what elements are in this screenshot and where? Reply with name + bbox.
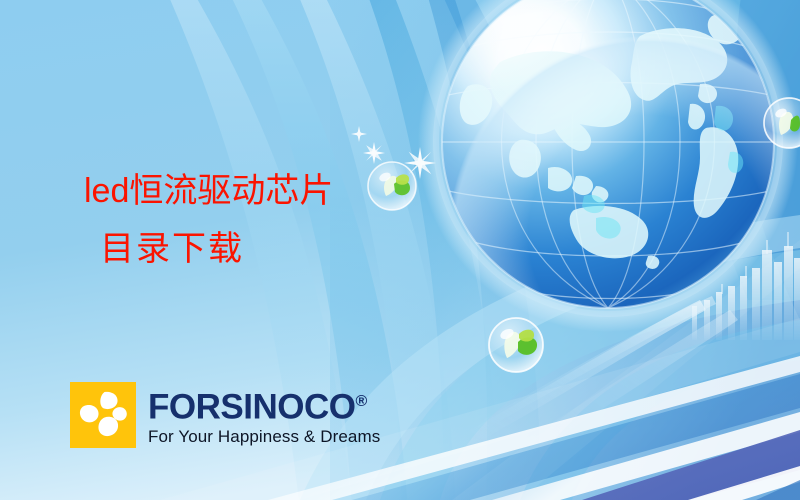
logo-wordmark-text: FORSINOCO	[148, 388, 355, 427]
logo-wordmark: FORSINOCO®	[148, 384, 380, 426]
bubble-leaf-large	[489, 318, 543, 372]
forsinoco-pinwheel-mark-icon	[70, 382, 136, 448]
poster-canvas: led恒流驱动芯片 目录下载 FORSINOCO® For Your Happi…	[0, 0, 800, 500]
logo-tagline: For Your Happiness & Dreams	[148, 427, 380, 447]
logo-text-block: FORSINOCO® For Your Happiness & Dreams	[148, 382, 380, 447]
brand-logo: FORSINOCO® For Your Happiness & Dreams	[70, 382, 380, 448]
sparkle-medium	[363, 142, 385, 164]
bubble-leaf-small	[368, 162, 416, 210]
registered-trademark-symbol: ®	[355, 393, 367, 410]
